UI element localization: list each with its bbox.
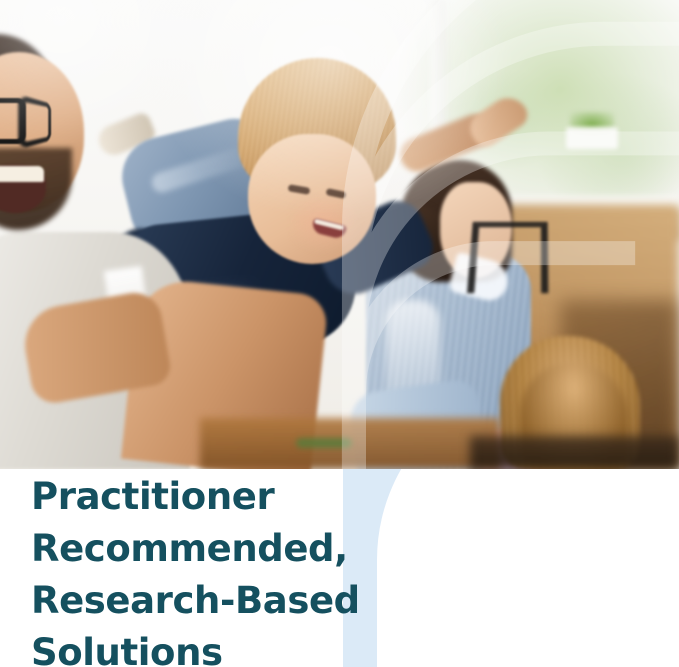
headline-panel: Practitioner Recommended, Research-Based… — [0, 469, 679, 667]
promo-banner: Practitioner Recommended, Research-Based… — [0, 0, 679, 667]
page-title: Practitioner Recommended, Research-Based… — [31, 471, 360, 667]
watermark-over-photo — [0, 0, 679, 469]
brand-arc-mark-icon — [0, 0, 679, 469]
